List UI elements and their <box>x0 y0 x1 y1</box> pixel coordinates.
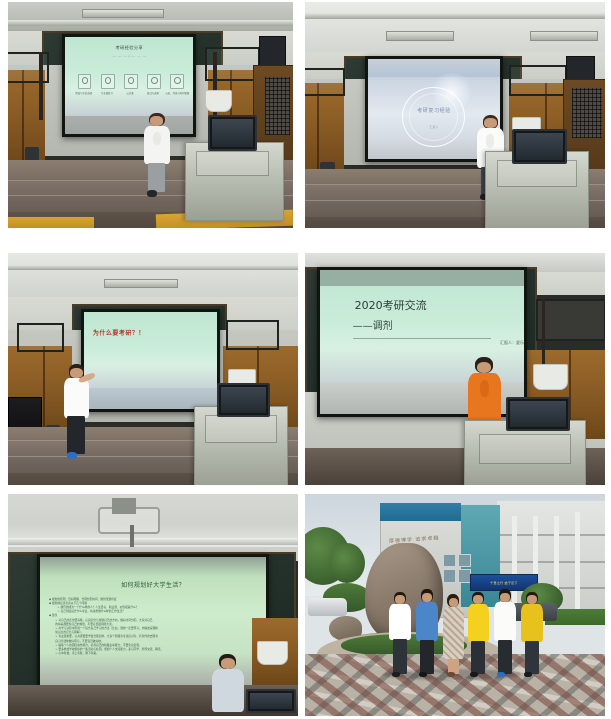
photo-2[interactable]: 考研复习经验 汇报人 <box>305 2 605 228</box>
group-person-6 <box>521 592 544 679</box>
wall-ac-unit <box>533 364 568 389</box>
group-person-3 <box>443 594 464 678</box>
projector-screen-3: 为什么要考研？！ <box>81 309 220 412</box>
presenter-shoe <box>147 190 157 197</box>
person-shoe <box>497 672 505 677</box>
wainscot-seam-1 <box>317 83 319 173</box>
monitor-screen <box>221 387 266 413</box>
door-mesh <box>265 77 291 136</box>
person-shoe <box>392 672 400 677</box>
lecture-room-scene-5: 如何规划好大学生活？ ◆ 规划的原则：目标明确、合理分配时间、做到张弛有度 ◆ … <box>8 494 298 716</box>
person-legs <box>393 639 407 674</box>
lectern-panel-1 <box>196 151 269 176</box>
slide-title-4: 2020考研交流 <box>320 297 527 313</box>
slide-subtitle-1: — · — · — ◇ — · — · — <box>65 54 193 58</box>
ceiling <box>305 2 605 52</box>
person-face <box>500 593 509 602</box>
wall-rack-right <box>226 320 279 350</box>
photo-5[interactable]: 如何规划好大学生活？ ◆ 规划的原则：目标明确、合理分配时间、做到张弛有度 ◆ … <box>8 494 298 716</box>
slide-icon-dot-5 <box>174 77 180 84</box>
ceiling-strip <box>305 13 605 19</box>
podium-monitor-5 <box>246 689 296 713</box>
podium-monitor-1 <box>208 115 258 151</box>
person-legs <box>525 641 539 674</box>
slide-title-1: 考研经验分享 <box>65 45 193 51</box>
group-person-2 <box>416 589 439 678</box>
car-left <box>308 598 347 616</box>
slide-subtitle-4: ——调剂 <box>320 317 527 332</box>
ceiling-rail <box>8 538 298 545</box>
wall-rack-right <box>536 299 605 340</box>
person-torso <box>521 604 542 642</box>
slide-icon-label-4: 复试与调剂 <box>141 91 165 95</box>
projector-body <box>112 498 135 514</box>
person-shoe <box>419 672 427 677</box>
presenter-1 <box>142 113 173 199</box>
presenter-torso <box>64 378 89 418</box>
building-window-4 <box>458 569 471 582</box>
ceiling-lamp <box>82 9 164 18</box>
building-window-3 <box>443 569 456 582</box>
person-legs <box>498 640 512 674</box>
photo-3[interactable]: 为什么要考研？！ <box>8 253 298 485</box>
screen-top-band <box>320 270 524 286</box>
person-face <box>527 595 536 604</box>
ceiling-strip <box>8 265 298 271</box>
person-dress <box>443 607 464 659</box>
person-face <box>422 593 431 602</box>
monitor-screen <box>250 693 292 709</box>
presenter-5 <box>211 654 246 716</box>
monitor-screen <box>510 401 566 427</box>
person-torso <box>416 602 437 641</box>
lectern-panel-3 <box>205 415 277 443</box>
slide-icon-dot-4 <box>151 77 157 84</box>
photo-collage: 考研经验分享 — · — · — ◇ — · — · — 院校与专业选择 专业课… <box>0 0 611 719</box>
presenter-arm <box>480 380 489 398</box>
presenter-torso <box>212 669 244 713</box>
slide-title-3: 为什么要考研？！ <box>84 328 220 337</box>
slide-title-5: 如何规划好大学生活？ <box>40 580 266 589</box>
presenter-arm <box>486 134 494 148</box>
lecture-room-scene-3: 为什么要考研？！ <box>8 253 298 485</box>
lectern-panel-2 <box>497 160 577 187</box>
podium-monitor-2 <box>512 129 567 165</box>
front-desk <box>8 217 94 228</box>
photo-4[interactable]: 2020考研交流 ——调剂 汇报人：夏乐 <box>305 253 605 485</box>
slide-icon-label-1: 院校与专业选择 <box>72 91 96 95</box>
presenter-legs <box>148 163 165 192</box>
slide-ring-inner <box>409 93 459 141</box>
slide-icon-label-5: 心态、作息与时间管理 <box>164 91 191 95</box>
slide-byline-4: 汇报人：夏乐 <box>320 340 527 346</box>
person-shoe <box>470 672 478 677</box>
monitor-screen <box>516 133 563 161</box>
ceiling-lamp <box>104 279 179 288</box>
presenter-legs <box>67 416 84 454</box>
presenter-face <box>484 118 497 127</box>
wall-speaker <box>259 36 287 67</box>
slide-bullets-5: ◆ 规划的原则：目标明确、合理分配时间、做到张弛有度 ◆ 规划前应该考虑以下几个… <box>49 597 257 656</box>
wall-rack-left <box>17 323 65 353</box>
screen-top-band <box>368 59 500 77</box>
lecture-room-scene-1: 考研经验分享 — · — · — ◇ — · — · — 院校与专业选择 专业课… <box>8 2 293 228</box>
slide-rule-4 <box>353 338 492 339</box>
wall-rack-right <box>509 65 567 96</box>
person-torso <box>389 604 410 640</box>
rack-post-left <box>39 52 42 120</box>
wainscot-left <box>305 83 344 173</box>
rack-post <box>542 299 545 369</box>
wainscot-seam-1 <box>43 346 45 434</box>
lecture-room-scene-4: 2020考研交流 ——调剂 汇报人：夏乐 <box>305 253 605 485</box>
presenter-arm <box>153 132 161 146</box>
wall-rack-left <box>8 52 49 83</box>
photo-1[interactable]: 考研经验分享 — · — · — ◇ — · — · — 院校与专业选择 专业课… <box>8 2 293 228</box>
ceiling <box>8 253 298 297</box>
slide-title-2: 考研复习经验 <box>368 107 500 114</box>
wall-rack-left <box>305 68 345 97</box>
person-face <box>449 598 458 606</box>
building-blue-top <box>380 503 461 521</box>
ceiling-strip <box>8 20 293 26</box>
building-window-1 <box>443 554 456 567</box>
wall-ac-unit <box>257 641 288 665</box>
group-person-5 <box>494 589 517 678</box>
presenter-shoe <box>67 452 77 459</box>
campus-outdoor-scene: 厚德博学 追求卓越 千里之行 始于足下 <box>305 494 605 716</box>
lecture-room-scene-2: 考研复习经验 汇报人 <box>305 2 605 228</box>
person-face <box>395 595 404 604</box>
tree-far-left <box>329 543 365 583</box>
person-torso <box>494 602 515 641</box>
projector-screen-1: 考研经验分享 — · — · — ◇ — · — · — 院校与专业选择 专业课… <box>62 34 196 137</box>
podium-monitor-3 <box>217 383 270 417</box>
ceiling-lamp <box>386 31 454 40</box>
building-window-2 <box>458 554 471 567</box>
monitor-screen <box>212 119 254 147</box>
wainscot-seam-1 <box>22 70 24 165</box>
presenter-face <box>221 658 235 669</box>
person-legs <box>471 641 485 674</box>
wall-ac-unit <box>205 90 233 112</box>
ceiling-lamp-2 <box>530 31 598 40</box>
slide-icon-label-3: 公共课 <box>118 91 142 95</box>
person-shoe <box>447 672 455 677</box>
person-face <box>473 595 482 604</box>
person-shoe <box>524 672 532 677</box>
group-person-1 <box>389 592 412 679</box>
slide-icon-label-2: 专业课复习 <box>95 91 119 95</box>
presenter-face <box>477 362 491 373</box>
photo-6-group-photo[interactable]: 厚德博学 追求卓越 千里之行 始于足下 <box>305 494 605 716</box>
screen-bottom-band <box>65 116 193 133</box>
person-legs <box>420 640 434 674</box>
projector-arm <box>130 525 134 547</box>
presenter-face <box>150 116 163 125</box>
podium-monitor-4 <box>506 397 570 431</box>
group-person-4 <box>467 592 490 679</box>
door-mesh <box>572 88 602 138</box>
building-column-4 <box>575 512 580 619</box>
presenter-3 <box>63 364 92 459</box>
lectern-panel-4 <box>479 434 571 464</box>
person-torso <box>468 604 489 642</box>
